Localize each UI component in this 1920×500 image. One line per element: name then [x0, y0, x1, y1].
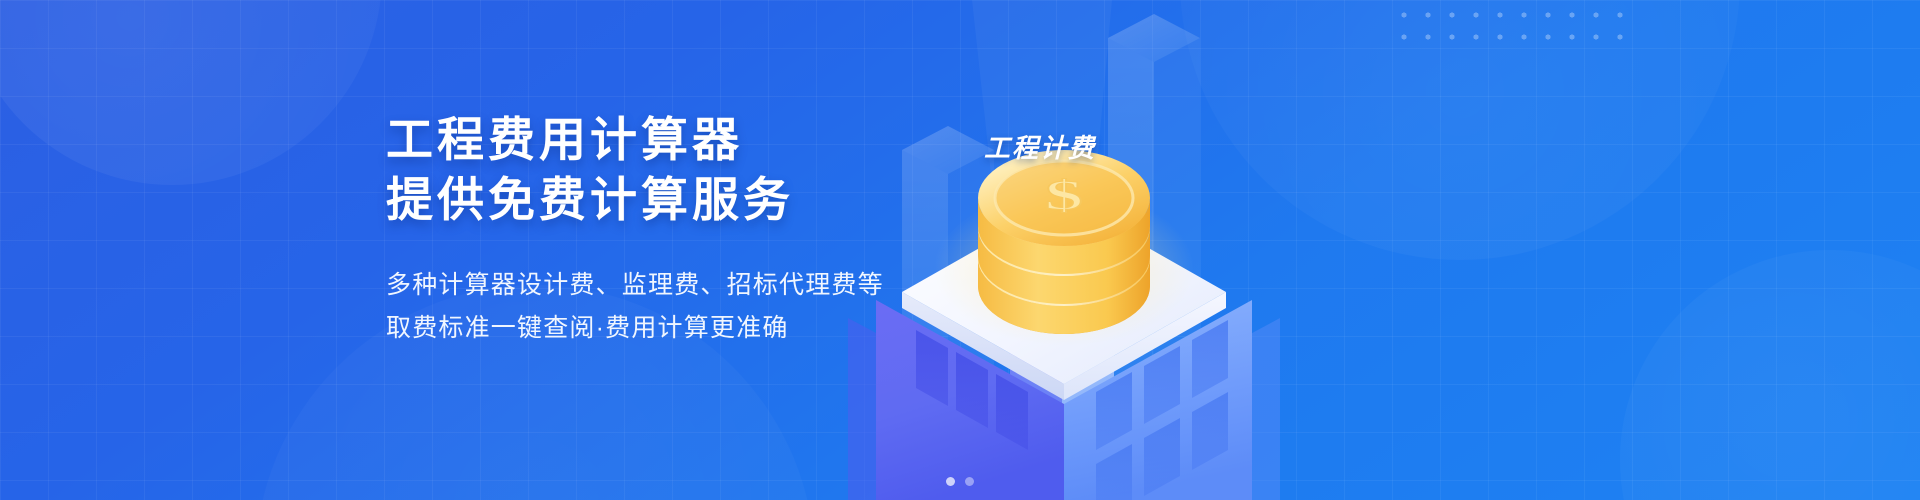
hero-headline: 工程费用计算器 提供免费计算服务	[386, 110, 1006, 230]
hero-subtitle: 多种计算器设计费、监理费、招标代理费等 取费标准一键查阅·费用计算更准确	[386, 264, 1006, 350]
subtitle-line-1: 多种计算器设计费、监理费、招标代理费等	[386, 264, 1006, 307]
carousel-dot-2[interactable]	[965, 477, 974, 486]
headline-line-2: 提供免费计算服务	[386, 170, 1006, 230]
dollar-sign-icon: $	[1045, 172, 1083, 219]
carousel-dot-1[interactable]	[946, 477, 955, 486]
decorative-circle-top-left	[0, 0, 382, 185]
hero-illustration: $ 工程计费	[912, 0, 1672, 500]
hero-copy-block: 工程费用计算器 提供免费计算服务 多种计算器设计费、监理费、招标代理费等 取费标…	[386, 110, 1006, 350]
svg-text:$: $	[1045, 172, 1083, 219]
headline-line-1: 工程费用计算器	[386, 113, 743, 166]
hero-banner: $ 工程计费 工程费用计算器 提供免费计算服务 多种计算器设计费、监理费、招标代…	[0, 0, 1920, 500]
isometric-city-illustration: $	[912, 0, 1672, 500]
subtitle-line-2: 取费标准一键查阅·费用计算更准确	[386, 307, 1006, 350]
carousel-indicator[interactable]	[0, 477, 1920, 486]
